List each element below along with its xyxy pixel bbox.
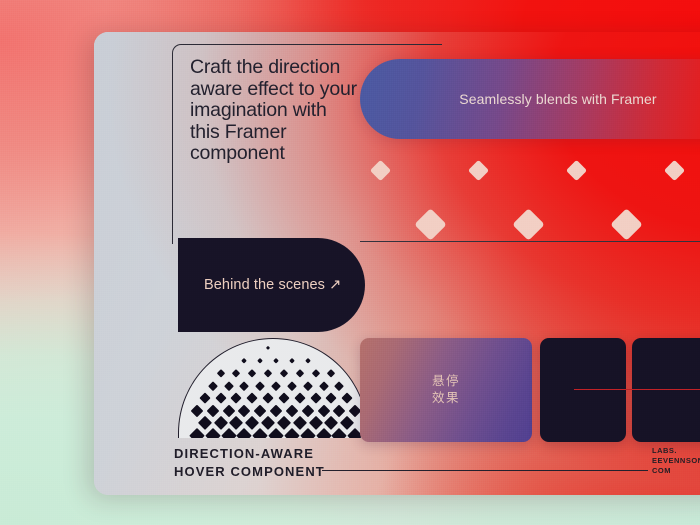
dome-diamond-dot [335, 381, 344, 390]
dome-diamond-dot [213, 416, 227, 430]
screenshot-stage: Craft the direction aware effect to your… [0, 0, 700, 525]
dome-diamond-dot [199, 393, 210, 404]
diamond-icon [467, 159, 488, 180]
dome-diamond-dot [241, 357, 247, 363]
red-accent-line [574, 389, 700, 390]
dome-diamond-dot [247, 393, 258, 404]
dome-diamond-dot [231, 393, 242, 404]
pill-label: Seamlessly blends with Framer [459, 91, 656, 107]
dark-card-a[interactable] [540, 338, 626, 442]
dome-diamond-dot [206, 404, 219, 417]
dome-diamond-dot [312, 369, 320, 377]
panel-content: Craft the direction aware effect to your… [94, 32, 700, 495]
dome-diamond-dot [222, 404, 235, 417]
dome-diamond-dot [273, 357, 279, 363]
dome-diamond-dot [229, 416, 243, 430]
dome-diamond-dot [310, 393, 321, 404]
dome-diamond-dot [317, 404, 330, 417]
dome-diamond-dot [284, 428, 300, 438]
dome-diamond-dot [252, 428, 268, 438]
dome-diamond-dot [198, 416, 212, 430]
dome-diamond-dot [340, 416, 354, 430]
dome-diamond-dot [208, 381, 217, 390]
dome-diamond-dot [224, 381, 233, 390]
dome-diamond-dot [245, 416, 259, 430]
diamond-icon [565, 159, 586, 180]
dome-diamond-dot [277, 416, 291, 430]
dome-diamond-dot [294, 393, 305, 404]
dome-diamond-dot [266, 346, 271, 351]
dome-diamond-dot [333, 404, 346, 417]
dome-diamond-dot [189, 428, 205, 438]
bottom-hairline-rule [322, 470, 648, 471]
dome-diamond-dot [255, 381, 264, 390]
dome-diamond-dot [305, 357, 311, 363]
dome-diamond-dot [289, 357, 295, 363]
dome-diamond-dot [300, 428, 316, 438]
dome-diamond-dot [254, 404, 267, 417]
dome-diamond-dot [319, 381, 328, 390]
showcase-panel: Craft the direction aware effect to your… [94, 32, 700, 495]
dome-pattern-graphic [178, 338, 368, 438]
behind-the-scenes-button[interactable]: Behind the scenes ↗ [178, 238, 365, 332]
dome-diamond-dot [232, 369, 240, 377]
dome-diamond-dot [293, 416, 307, 430]
dome-diamond-dot [190, 404, 203, 417]
behind-the-scenes-label: Behind the scenes ↗ [204, 277, 341, 293]
dome-diamond-dot [324, 416, 338, 430]
dome-diamond-dot [301, 404, 314, 417]
diamond-icon [369, 159, 390, 180]
diamond-icon [512, 208, 545, 241]
dome-diamond-dot [303, 381, 312, 390]
hover-effect-card[interactable]: 悬停 效果 [360, 338, 532, 442]
dome-diamond-dot [248, 369, 256, 377]
dome-diamond-dot [327, 369, 335, 377]
seamless-blend-pill[interactable]: Seamlessly blends with Framer [360, 59, 700, 139]
diamond-decoration-field [360, 150, 700, 242]
dome-diamond-dot [270, 404, 283, 417]
credit-label: LABS. EEVENNSON. COM [652, 446, 700, 476]
dome-diamond-dot [217, 369, 225, 377]
dome-diamond-dot [285, 404, 298, 417]
dome-diamond-dot [263, 393, 274, 404]
page-title: Craft the direction aware effect to your… [190, 57, 360, 165]
dome-diamond-dot [308, 416, 322, 430]
dome-diamond-dot [215, 393, 226, 404]
dome-diamond-dot [287, 381, 296, 390]
dark-card-b[interactable] [632, 338, 700, 442]
dome-diamond-dot [296, 369, 304, 377]
diamond-icon [663, 159, 684, 180]
dome-diamond-dot [268, 428, 284, 438]
dome-diamond-dot [238, 404, 251, 417]
dome-diamond-dot [236, 428, 252, 438]
dome-diamond-dot [278, 393, 289, 404]
dome-diamond-dot [280, 369, 288, 377]
dome-diamond-dot [264, 369, 272, 377]
dome-diamond-dot [240, 381, 249, 390]
dome-diamond-dot [326, 393, 337, 404]
dome-diamond-dot [205, 428, 221, 438]
hover-effect-label: 悬停 效果 [432, 373, 460, 407]
diamond-icon [610, 208, 643, 241]
dome-diamond-dot [331, 428, 347, 438]
diamond-icon [414, 208, 447, 241]
dome-diamond-dot [261, 416, 275, 430]
dome-diamond-dot [315, 428, 331, 438]
dome-diamond-dot [342, 393, 353, 404]
component-caption: DIRECTION-AWARE HOVER COMPONENT [174, 445, 325, 480]
dome-diamond-dot [271, 381, 280, 390]
dome-diamond-dot [220, 428, 236, 438]
dome-diamond-dot [257, 357, 263, 363]
